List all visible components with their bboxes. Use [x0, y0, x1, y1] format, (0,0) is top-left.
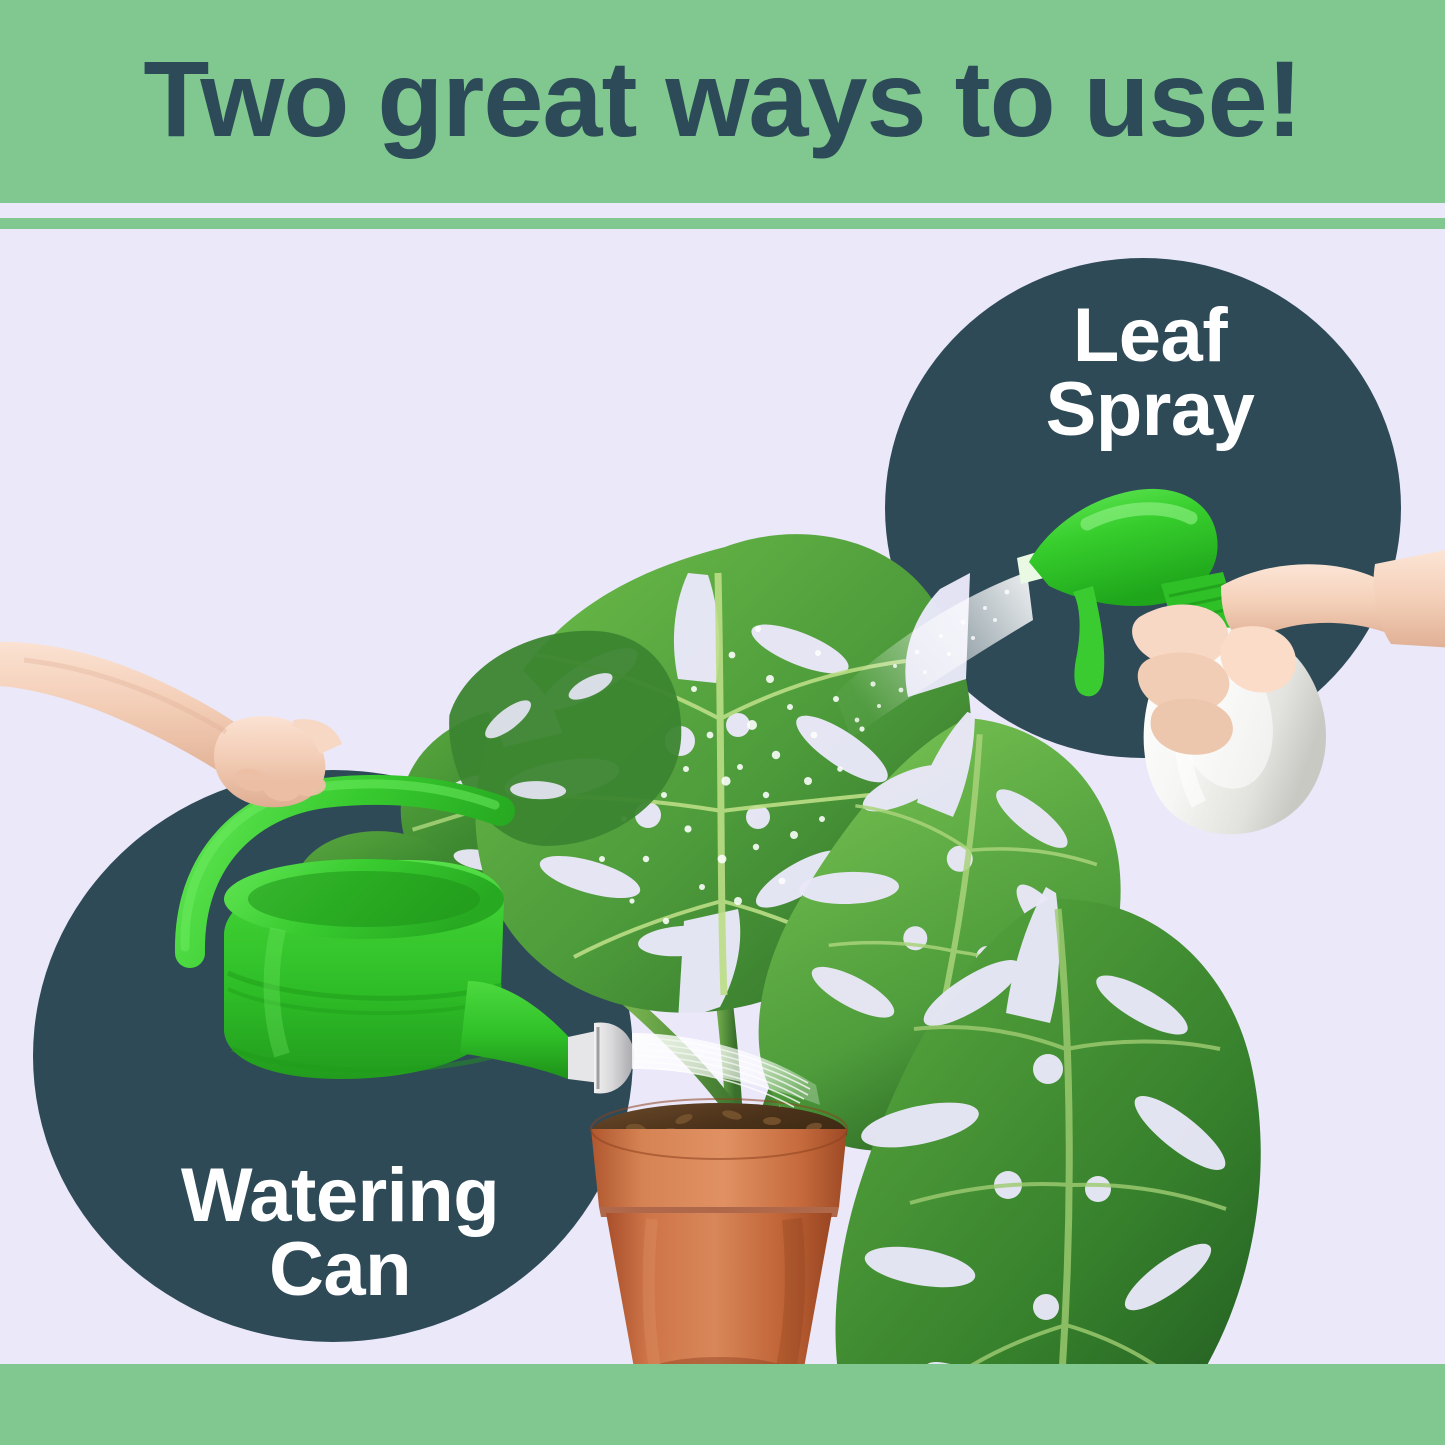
- infographic-canvas: Two great ways to use!: [0, 0, 1445, 1445]
- trigger-lever: [1073, 586, 1104, 696]
- footer-band: [0, 1364, 1445, 1445]
- can-rose: [594, 1022, 634, 1093]
- hand-holding-watering-can: [0, 624, 354, 814]
- page-title: Two great ways to use!: [0, 0, 1445, 203]
- accent-stripe: [0, 218, 1445, 229]
- badge-label-watering-can: Watering Can: [130, 1159, 550, 1308]
- forearm-right: [1374, 548, 1445, 648]
- pot-rim: [591, 1129, 847, 1207]
- leaf-right-lower: [836, 887, 1261, 1364]
- can-spout: [460, 981, 576, 1079]
- spray-bottle-icon: [955, 444, 1445, 864]
- scene-area: Leaf Spray Watering Can: [0, 229, 1445, 1364]
- badge-label-leaf-spray: Leaf Spray: [1000, 299, 1300, 448]
